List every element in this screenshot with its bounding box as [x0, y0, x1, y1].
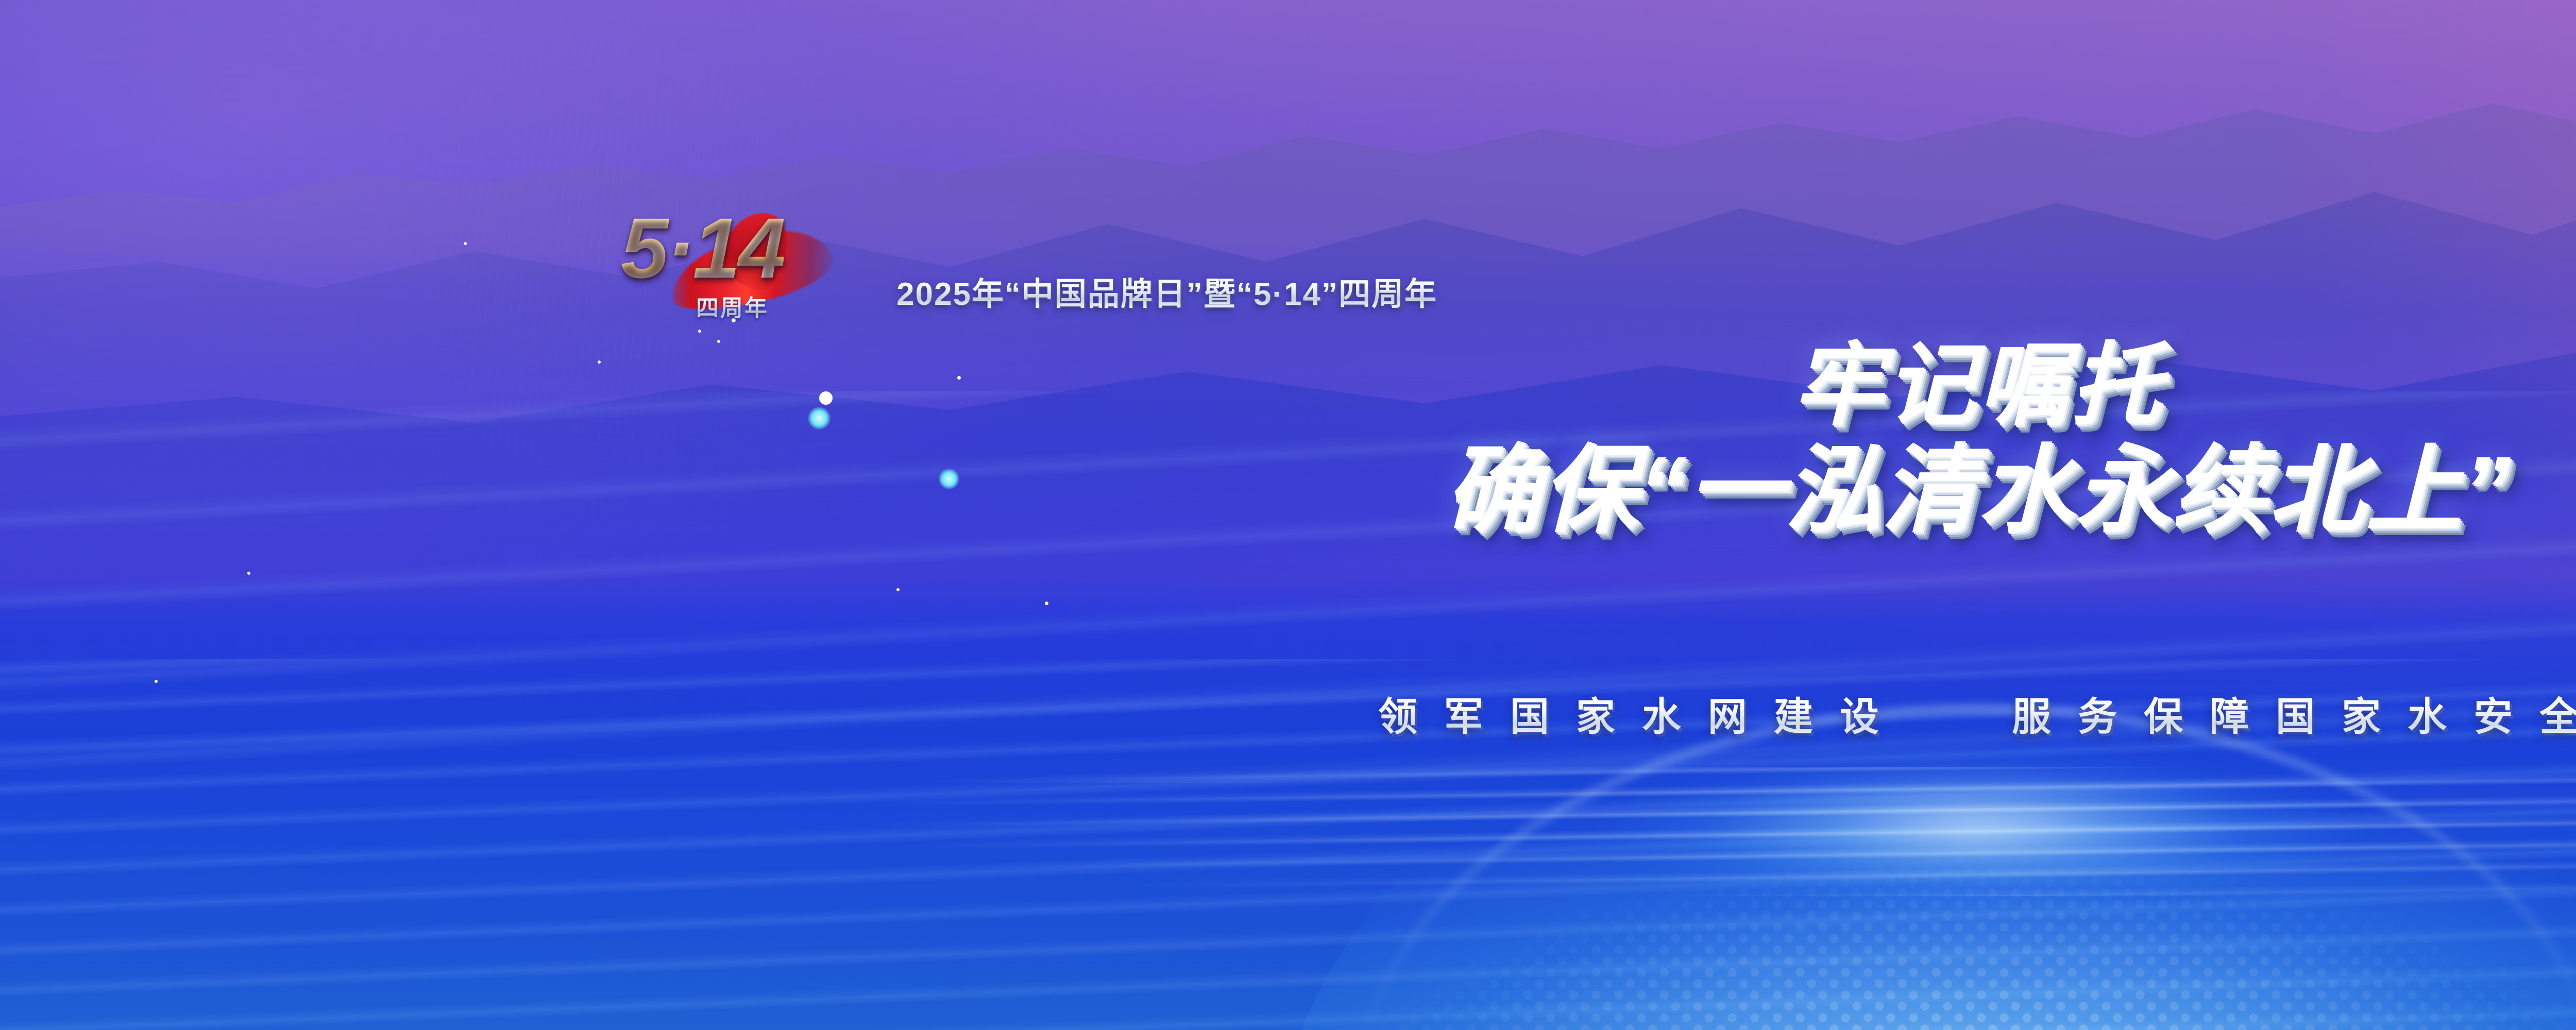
anniversary-numerals: 5·14 — [621, 206, 784, 291]
subtitle-right: 服务保障国家水安全 — [2012, 695, 2576, 739]
headline-line-1: 牢记嘱托 — [0, 340, 2576, 433]
event-title-line: 2025年“中国品牌日”暨“5·14”四周年 — [896, 268, 1437, 314]
subtitle-left: 领军国家水网建设 — [1378, 695, 1906, 739]
subtitle-slogan: 领军国家水网建设 服务保障国家水安全 — [0, 685, 2576, 742]
anniversary-logo-514: 5·14 四周年 — [621, 206, 837, 335]
main-headline: 牢记嘱托 确保“一泓清水永续北上” — [0, 340, 2576, 539]
event-banner: 5·14 四周年 2025年“中国品牌日”暨“5·14”四周年 — [0, 0, 2576, 1030]
banner-content: 5·14 四周年 2025年“中国品牌日”暨“5·14”四周年 — [0, 0, 2576, 1030]
anniversary-caption: 四周年 — [696, 289, 769, 322]
headline-line-2: 确保“一泓清水永续北上” — [0, 442, 2576, 540]
